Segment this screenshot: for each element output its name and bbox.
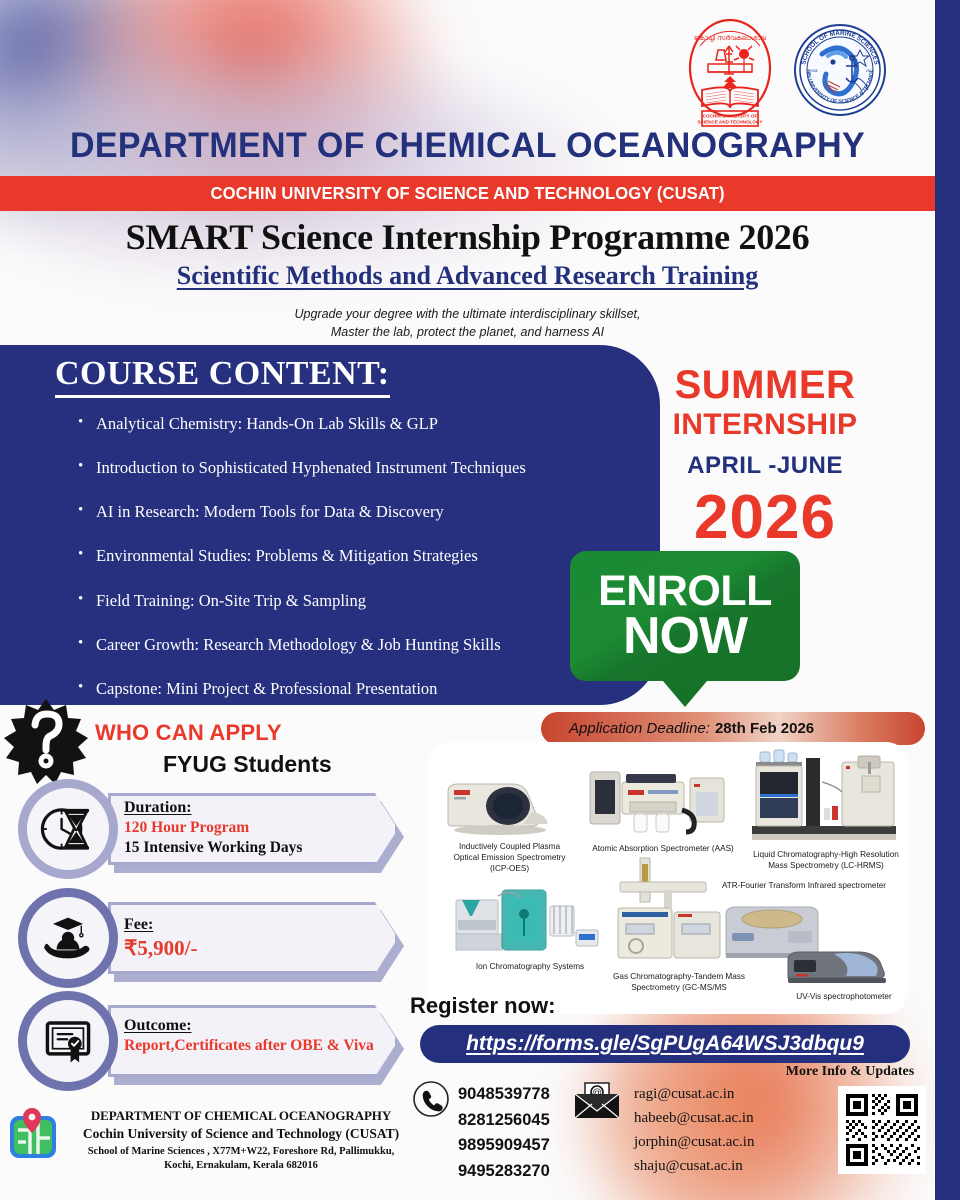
summer-label: SUMMER (620, 363, 910, 408)
email-address: jorphin@cusat.ac.in (634, 1130, 754, 1154)
card-highlight: Report,Certificates after OBE & Viva (124, 1037, 389, 1055)
card-text: Fee: ₹5,900/- (124, 916, 389, 961)
list-item: Analytical Chemistry: Hands-On Lab Skill… (78, 415, 638, 433)
address-line-3: School of Marine Sciences , X77M+W22, Fo… (66, 1145, 416, 1173)
svg-text:COCHIN UNIVERSITY OF: COCHIN UNIVERSITY OF (703, 114, 758, 119)
list-item: Field Training: On-Site Trip & Sampling (78, 592, 638, 610)
page-title: DEPARTMENT OF CHEMICAL OCEANOGRAPHY (14, 126, 921, 166)
list-item: Career Growth: Research Methodology & Jo… (78, 636, 638, 654)
deadline-value: 28th Feb 2026 (715, 720, 814, 737)
list-item: Introduction to Sophisticated Hyphenated… (78, 459, 638, 477)
qr-code[interactable] (838, 1086, 926, 1174)
svg-text:1938: 1938 (810, 69, 818, 73)
enroll-now-button[interactable]: ENROLL NOW (570, 551, 800, 707)
internship-label: INTERNSHIP (620, 408, 910, 442)
school-of-marine-sciences-logo: SCHOOL OF MARINE SCIENCES COCHIN UNIVERS… (792, 16, 888, 128)
card-detail: 15 Intensive Working Days (124, 839, 389, 857)
address-line-2: Cochin University of Science and Technol… (66, 1126, 416, 1142)
list-item: AI in Research: Modern Tools for Data & … (78, 503, 638, 521)
instrument-aas: Atomic Absorption Spectrometer (AAS) (578, 760, 748, 854)
instrument-caption: Gas Chromatography-Tandem MassSpectromet… (604, 971, 754, 993)
card-title: Duration: (124, 799, 389, 817)
enroll-label-line2: NOW (623, 612, 747, 661)
info-card-duration: Duration: 120 Hour Program 15 Intensive … (18, 793, 398, 865)
enroll-bubble-tail (663, 681, 707, 707)
registration-link[interactable]: https://forms.gle/SgPUgA64WSJ3dbqu9 (420, 1025, 910, 1063)
instrument-caption: Atomic Absorption Spectrometer (AAS) (578, 843, 748, 854)
graduate-in-hand-icon (18, 888, 118, 988)
svg-text:2016: 2016 (866, 69, 874, 73)
who-can-apply-heading: WHO CAN APPLY (95, 720, 282, 746)
instrument-ion-chromatography: Ion Chromatography Systems (450, 876, 610, 972)
certificate-icon (18, 991, 118, 1091)
course-content-list: Analytical Chemistry: Hands-On Lab Skill… (78, 415, 638, 724)
enroll-now-bubble[interactable]: ENROLL NOW (570, 551, 800, 681)
email-list: ragi@cusat.ac.in habeeb@cusat.ac.in jorp… (634, 1082, 754, 1178)
hourglass-clock-icon (18, 779, 118, 879)
card-highlight: ₹5,900/- (124, 936, 389, 961)
audience-label: FYUG Students (163, 751, 332, 778)
card-title: Outcome: (124, 1017, 389, 1035)
phone-number-list: 9048539778 8281256045 9895909457 9495283… (458, 1082, 550, 1184)
question-mark-icon (2, 697, 90, 785)
email-envelope-icon: @ (572, 1082, 622, 1120)
registration-url[interactable]: https://forms.gle/SgPUgA64WSJ3dbqu9 (466, 1032, 864, 1056)
phone-icon (412, 1080, 450, 1118)
decor-blob-red (40, 0, 460, 200)
card-text: Outcome: Report,Certificates after OBE &… (124, 1017, 389, 1055)
list-item: Environmental Studies: Problems & Mitiga… (78, 547, 638, 565)
instrument-lc-hrms: Liquid Chromatography-High ResolutionMas… (746, 748, 906, 871)
programme-title: SMART Science Internship Programme 2026 (0, 216, 935, 258)
internship-months: APRIL -JUNE (620, 452, 910, 480)
info-card-outcome: Outcome: Report,Certificates after OBE &… (18, 1005, 398, 1077)
address-line-1: DEPARTMENT OF CHEMICAL OCEANOGRAPHY (66, 1108, 416, 1124)
tagline: Upgrade your degree with the ultimate in… (0, 305, 935, 341)
poster-root: കൊച്ചി സർവകലാശാല (0, 0, 960, 1200)
email-address: shaju@cusat.ac.in (634, 1154, 754, 1178)
tagline-line-2: Master the lab, protect the planet, and … (0, 323, 935, 341)
instrument-gallery: Inductively Coupled PlasmaOptical Emissi… (428, 742, 908, 1014)
deadline-label: Application Deadline: (569, 720, 710, 737)
instrument-icp-oes: Inductively Coupled PlasmaOptical Emissi… (442, 764, 577, 874)
programme-expansion: Scientific Methods and Advanced Research… (0, 261, 935, 291)
instrument-caption: UV-Vis spectrophotometer (784, 991, 904, 1002)
card-text: Duration: 120 Hour Program 15 Intensive … (124, 799, 389, 857)
svg-text:SCIENCE AND TECHNOLOGY: SCIENCE AND TECHNOLOGY (697, 120, 762, 125)
email-address: habeeb@cusat.ac.in (634, 1106, 754, 1130)
instrument-uv-vis: UV-Vis spectrophotometer (784, 938, 904, 1002)
instrument-gc-msms: Gas Chromatography-Tandem MassSpectromet… (604, 854, 754, 993)
internship-year: 2026 (620, 482, 910, 553)
phone-number: 9895909457 (458, 1133, 550, 1159)
phone-number: 9495283270 (458, 1159, 550, 1185)
svg-text:കൊച്ചി സർവകലാശാല: കൊച്ചി സർവകലാശാല (694, 34, 767, 42)
card-title: Fee: (124, 916, 389, 934)
course-content-heading: COURSE CONTENT: (55, 355, 390, 398)
list-item: Capstone: Mini Project & Professional Pr… (78, 680, 638, 698)
register-now-label: Register now: (410, 993, 555, 1019)
enroll-label-line1: ENROLL (598, 571, 772, 612)
email-address: ragi@cusat.ac.in (634, 1082, 754, 1106)
university-band: COCHIN UNIVERSITY OF SCIENCE AND TECHNOL… (0, 176, 935, 211)
tagline-line-1: Upgrade your degree with the ultimate in… (0, 305, 935, 323)
instrument-caption: Ion Chromatography Systems (450, 961, 610, 972)
address-block: DEPARTMENT OF CHEMICAL OCEANOGRAPHY Coch… (66, 1108, 416, 1173)
right-edge-strip (935, 0, 960, 1200)
instrument-caption: Liquid Chromatography-High ResolutionMas… (746, 849, 906, 871)
info-card-fee: Fee: ₹5,900/- (18, 902, 398, 974)
instrument-caption: Inductively Coupled PlasmaOptical Emissi… (442, 841, 577, 874)
card-highlight: 120 Hour Program (124, 819, 389, 837)
cusat-logo: കൊച്ചി സർവകലാശാല (682, 16, 778, 128)
map-pin-icon (8, 1108, 58, 1160)
logo-group: കൊച്ചി സർവകലാശാല (682, 16, 888, 128)
university-band-label: COCHIN UNIVERSITY OF SCIENCE AND TECHNOL… (210, 183, 724, 204)
phone-number: 8281256045 (458, 1108, 550, 1134)
more-info-label: More Info & Updates (760, 1064, 940, 1080)
application-deadline-banner: Application Deadline: 28th Feb 2026 (541, 712, 925, 745)
phone-number: 9048539778 (458, 1082, 550, 1108)
